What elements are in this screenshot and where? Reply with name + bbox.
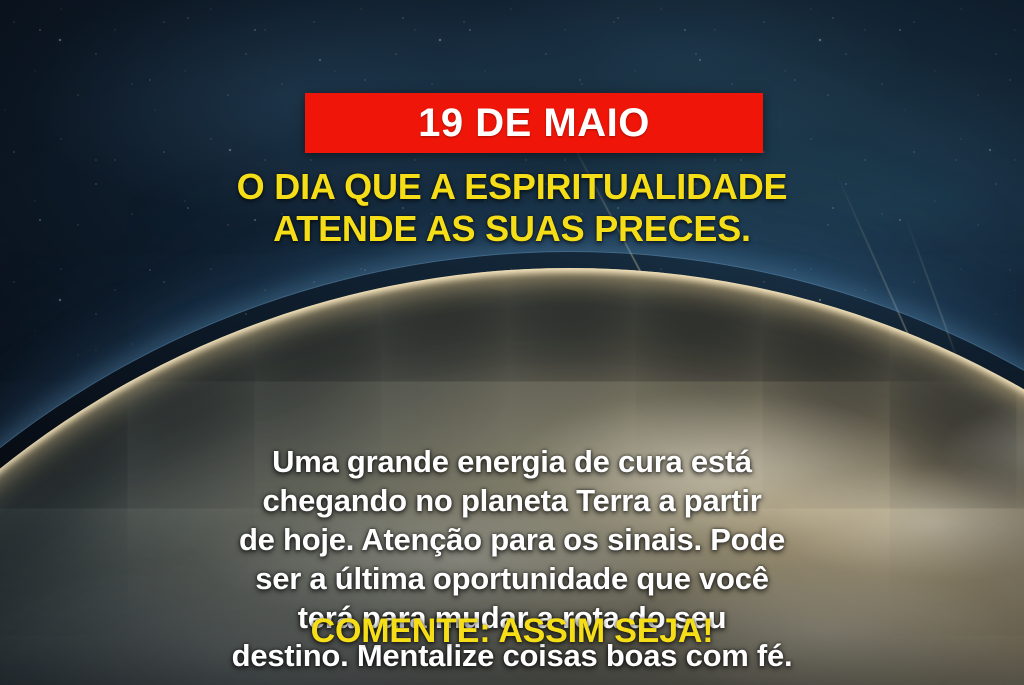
body-line-3: de hoje. Atenção para os sinais. Pode bbox=[26, 521, 998, 560]
date-banner: 19 DE MAIO bbox=[305, 93, 763, 153]
call-to-action: COMENTE: ASSIM SEJA! bbox=[0, 613, 1024, 650]
body-line-2: chegando no planeta Terra a partir bbox=[26, 482, 998, 521]
body-line-1: Uma grande energia de cura está bbox=[26, 443, 998, 482]
call-to-action-text: COMENTE: ASSIM SEJA! bbox=[311, 612, 714, 650]
poster-content: 19 DE MAIO O DIA QUE A ESPIRITUALIDADE A… bbox=[0, 0, 1024, 685]
body-line-4: ser a última oportunidade que você bbox=[26, 560, 998, 599]
headline-line-1: O DIA QUE A ESPIRITUALIDADE bbox=[48, 166, 976, 208]
headline: O DIA QUE A ESPIRITUALIDADE ATENDE AS SU… bbox=[0, 166, 1024, 250]
date-banner-text: 19 DE MAIO bbox=[418, 103, 650, 143]
headline-line-2: ATENDE AS SUAS PRECES. bbox=[48, 208, 976, 250]
poster-canvas: 19 DE MAIO O DIA QUE A ESPIRITUALIDADE A… bbox=[0, 0, 1024, 685]
